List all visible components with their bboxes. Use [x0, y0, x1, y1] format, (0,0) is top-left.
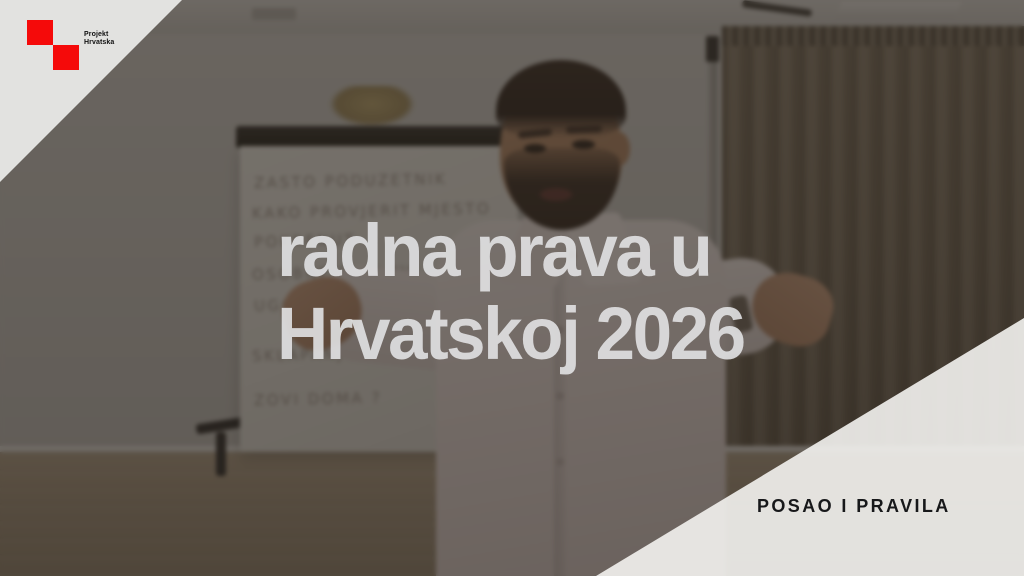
slide-title: radna prava u Hrvatskoj 2026	[277, 209, 853, 375]
video-thumbnail-slide: ZASTO PODUZETNIK KAKO PROVJERIT MJESTO P…	[0, 0, 1024, 576]
logo-square-top-icon	[27, 20, 53, 45]
logo-wordmark-line-1: Projekt	[84, 31, 114, 39]
logo-wordmark: Projekt Hrvatska	[84, 31, 114, 47]
logo-wordmark-line-2: Hrvatska	[84, 39, 114, 47]
slide-kicker-label: POSAO I PRAVILA	[757, 496, 951, 517]
logo-square-bottom-icon	[53, 45, 79, 70]
brand-logo[interactable]: Projekt Hrvatska	[27, 20, 147, 72]
